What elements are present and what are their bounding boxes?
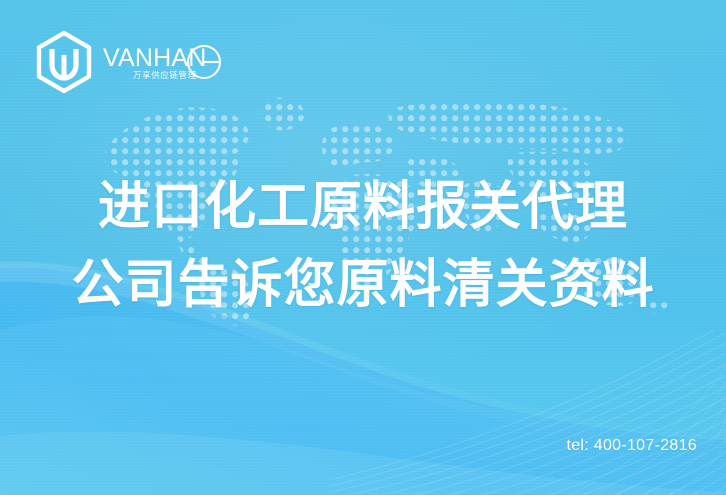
logo-wordmark-text: VANHAN <box>103 44 207 72</box>
logo-wordmark: VANHAN 万享供应链管理 <box>103 39 225 85</box>
headline-block: 进口化工原料报关代理 公司告诉您原料清关资料 <box>0 168 726 324</box>
company-logo[interactable]: VANHAN 万享供应链管理 <box>34 31 225 93</box>
promo-banner: VANHAN 万享供应链管理 进口化工原料报关代理 公司告诉您原料清关资料 te… <box>0 0 726 495</box>
hexagon-u-mark-icon <box>34 31 94 93</box>
headline-line-2: 公司告诉您原料清关资料 <box>0 246 726 324</box>
contact-phone[interactable]: tel: 400-107-2816 <box>566 437 697 455</box>
background-hairline-stripes <box>330 330 726 495</box>
headline-line-1: 进口化工原料报关代理 <box>0 168 726 246</box>
logo-subtitle-text: 万享供应链管理 <box>133 70 197 80</box>
